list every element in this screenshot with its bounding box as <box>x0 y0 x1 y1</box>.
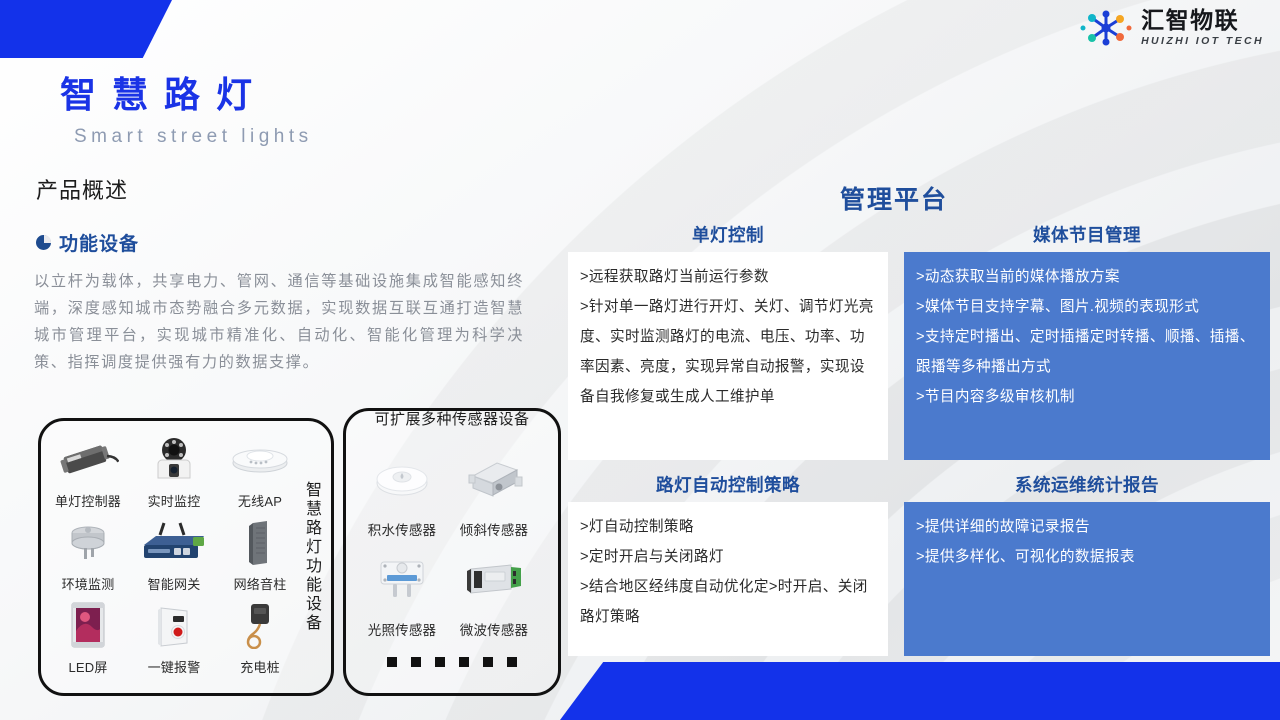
page-subtitle: Smart street lights <box>74 126 313 148</box>
brand-name-en: HUIZHI IOT TECH <box>1141 36 1264 47</box>
device-item[interactable]: 充电桩 <box>217 593 303 676</box>
device-label: LED屏 <box>68 657 107 676</box>
card-line: >支持定时播出、定时插播定时转播、顺播、插播、跟播等多种播出方式 <box>916 322 1260 382</box>
device-box-vertical-label: 智慧路灯功能设备 <box>297 437 325 677</box>
sensor-label: 积水传感器 <box>368 519 437 539</box>
device-label: 智能网关 <box>148 574 201 593</box>
card-line: >针对单一路灯进行开灯、关灯、调节灯光亮度、实时监测路灯的电流、电压、功率、功率… <box>580 292 878 412</box>
card-media-program-management: 媒体节目管理 >动态获取当前的媒体播放方案 >媒体节目支持字幕、图片.视频的表现… <box>904 222 1270 460</box>
device-item[interactable]: 无线AP <box>217 427 303 510</box>
card-line: >定时开启与关闭路灯 <box>580 542 878 572</box>
molecule-network-icon <box>1080 8 1132 48</box>
card-title: 单灯控制 <box>568 222 888 247</box>
sensor-item[interactable]: 积水传感器 <box>356 439 448 539</box>
device-item[interactable]: 网络音柱 <box>217 510 303 593</box>
device-label: 充电桩 <box>240 657 280 676</box>
sensor-expand-indicator <box>346 657 558 667</box>
device-item[interactable]: 智能网关 <box>131 510 217 593</box>
card-line: >结合地区经纬度自动优化定>时开启、关闭路灯策略 <box>580 572 878 632</box>
sensor-item[interactable]: 倾斜传感器 <box>448 439 540 539</box>
card-body: >远程获取路灯当前运行参数 >针对单一路灯进行开灯、关灯、调节灯光亮度、实时监测… <box>568 252 888 460</box>
card-line: >提供详细的故障记录报告 <box>916 512 1260 542</box>
network-speaker-icon <box>217 510 303 574</box>
sensor-grid: 积水传感器 倾斜传感器 光照传感器 微波传感器 <box>356 439 540 639</box>
overview-paragraph: 以立杆为载体，共享电力、管网、通信等基础设施集成智能感知终端，深度感知城市态势融… <box>34 268 524 376</box>
device-label: 网络音柱 <box>234 574 287 593</box>
card-title: 系统运维统计报告 <box>904 472 1270 497</box>
indicator-square <box>435 657 445 667</box>
card-line: >提供多样化、可视化的数据报表 <box>916 542 1260 572</box>
bottom-accent-bar <box>560 662 1280 720</box>
wireless-ap-icon <box>217 427 303 491</box>
led-driver-icon <box>45 427 131 491</box>
device-label: 环境监测 <box>62 574 115 593</box>
device-item[interactable]: LED屏 <box>45 593 131 676</box>
light-sensor-icon <box>356 539 448 619</box>
device-label: 一键报警 <box>148 657 201 676</box>
page-title: 智慧路灯 <box>60 66 268 118</box>
card-title: 媒体节目管理 <box>904 222 1270 247</box>
device-label: 单灯控制器 <box>55 491 121 510</box>
device-item[interactable]: 单灯控制器 <box>45 427 131 510</box>
device-label: 实时监控 <box>148 491 201 510</box>
water-level-sensor-icon <box>356 439 448 519</box>
tilt-sensor-icon <box>448 439 540 519</box>
sensor-box-title: 可扩展多种传感器设备 <box>346 408 558 429</box>
card-title: 路灯自动控制策略 <box>568 472 888 497</box>
subsection-title: 功能设备 <box>59 229 139 256</box>
indicator-square <box>387 657 397 667</box>
indicator-square <box>507 657 517 667</box>
sensor-item[interactable]: 光照传感器 <box>356 539 448 639</box>
card-line: >动态获取当前的媒体播放方案 <box>916 262 1260 292</box>
card-line: >节目内容多级审核机制 <box>916 382 1260 412</box>
subsection-heading: 功能设备 <box>36 229 139 256</box>
device-item[interactable]: 实时监控 <box>131 427 217 510</box>
device-item[interactable]: 一键报警 <box>131 593 217 676</box>
platform-title: 管理平台 <box>840 180 948 216</box>
brand-logo: 汇智物联 HUIZHI IOT TECH <box>1080 8 1264 48</box>
sensor-label: 微波传感器 <box>460 619 529 639</box>
alarm-button-icon <box>131 593 217 657</box>
smart-gateway-icon <box>131 510 217 574</box>
sensor-box: 可扩展多种传感器设备 积水传感器 倾斜传感器 光照传感器 <box>343 408 561 696</box>
device-grid: 单灯控制器 实时监控 无线AP 环境监测 <box>45 427 303 676</box>
microwave-sensor-icon <box>448 539 540 619</box>
device-item[interactable]: 环境监测 <box>45 510 131 593</box>
indicator-square <box>459 657 469 667</box>
card-body: >动态获取当前的媒体播放方案 >媒体节目支持字幕、图片.视频的表现形式 >支持定… <box>904 252 1270 460</box>
sensor-label: 倾斜传感器 <box>460 519 529 539</box>
card-single-lamp-control: 单灯控制 >远程获取路灯当前运行参数 >针对单一路灯进行开灯、关灯、调节灯光亮度… <box>568 222 888 460</box>
card-line: >远程获取路灯当前运行参数 <box>580 262 878 292</box>
led-screen-icon <box>45 593 131 657</box>
top-left-accent-shape <box>0 0 172 58</box>
card-line: >灯自动控制策略 <box>580 512 878 542</box>
section-title: 产品概述 <box>36 173 128 205</box>
slide-canvas: 汇智物联 HUIZHI IOT TECH 智慧路灯 Smart street l… <box>0 0 1280 720</box>
card-ops-statistics-report: 系统运维统计报告 >提供详细的故障记录报告 >提供多样化、可视化的数据报表 <box>904 472 1270 656</box>
charging-pile-icon <box>217 593 303 657</box>
sensor-label: 光照传感器 <box>368 619 437 639</box>
environment-sensor-icon <box>45 510 131 574</box>
indicator-square <box>483 657 493 667</box>
card-body: >灯自动控制策略 >定时开启与关闭路灯 >结合地区经纬度自动优化定>时开启、关闭… <box>568 502 888 656</box>
brand-name-cn: 汇智物联 <box>1141 9 1264 32</box>
indicator-square <box>411 657 421 667</box>
ptz-camera-icon <box>131 427 217 491</box>
card-line: >媒体节目支持字幕、图片.视频的表现形式 <box>916 292 1260 322</box>
sensor-item[interactable]: 微波传感器 <box>448 539 540 639</box>
card-body: >提供详细的故障记录报告 >提供多样化、可视化的数据报表 <box>904 502 1270 656</box>
device-label: 无线AP <box>238 491 282 510</box>
device-box: 单灯控制器 实时监控 无线AP 环境监测 <box>38 418 334 696</box>
card-auto-control-strategy: 路灯自动控制策略 >灯自动控制策略 >定时开启与关闭路灯 >结合地区经纬度自动优… <box>568 472 888 656</box>
pie-circle-icon <box>36 235 51 250</box>
